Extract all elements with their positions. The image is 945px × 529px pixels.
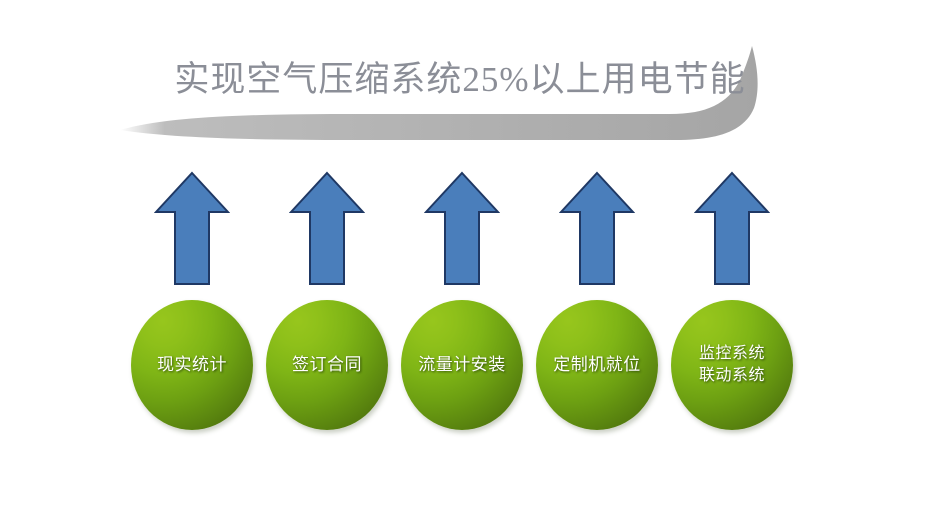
- up-arrow-icon-5: [694, 170, 770, 288]
- title-banner: 实现空气压缩系统25%以上用电节能: [110, 28, 810, 148]
- up-arrow-icon: [559, 170, 635, 288]
- up-arrow-icon-3: [424, 170, 500, 288]
- up-arrow-icon: [154, 170, 230, 288]
- process-node-4[interactable]: 定制机就位: [536, 300, 658, 430]
- up-arrow-icon: [424, 170, 500, 288]
- green-sphere: [536, 300, 658, 430]
- up-arrow-icon-1: [154, 170, 230, 288]
- up-arrow-icon: [694, 170, 770, 288]
- process-node-5[interactable]: 监控系统 联动系统: [671, 300, 793, 430]
- process-node-2[interactable]: 签订合同: [266, 300, 388, 430]
- process-node-3[interactable]: 流量计安装: [401, 300, 523, 430]
- up-arrow-icon: [289, 170, 365, 288]
- up-arrow-icon-4: [559, 170, 635, 288]
- green-sphere: [671, 300, 793, 430]
- green-sphere: [131, 300, 253, 430]
- up-arrow-icon-2: [289, 170, 365, 288]
- green-sphere: [401, 300, 523, 430]
- slide-canvas: 实现空气压缩系统25%以上用电节能 现实统计 签订合同: [0, 0, 945, 529]
- green-sphere: [266, 300, 388, 430]
- process-node-1[interactable]: 现实统计: [131, 300, 253, 430]
- page-title: 实现空气压缩系统25%以上用电节能: [150, 50, 770, 110]
